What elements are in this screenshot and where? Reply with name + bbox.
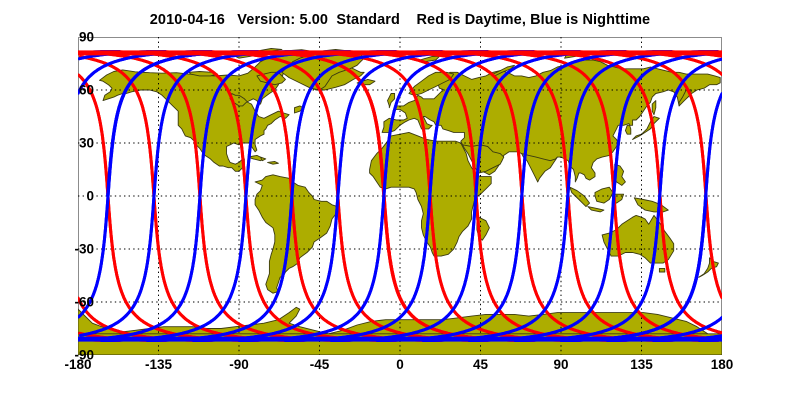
nighttime-track (706, 94, 722, 196)
south-polar-track-envelope (78, 337, 722, 342)
x-tick-label: -90 (229, 357, 249, 372)
nighttime-track (81, 196, 154, 335)
world-map-ground-tracks (78, 37, 722, 355)
chart-title: 2010-04-16 Version: 5.00 Standard Red is… (0, 12, 800, 28)
y-tick-label: -30 (74, 242, 94, 257)
x-tick-label: 0 (396, 357, 404, 372)
landmass-sakhalin (652, 101, 656, 115)
landmass-sumatra (570, 187, 590, 206)
landmass-hispaniola (268, 162, 279, 165)
x-tick-label: -135 (145, 357, 172, 372)
landmass-new-guinea (634, 198, 668, 212)
landmass-tasmania (659, 268, 664, 272)
north-polar-track-envelope (78, 50, 722, 55)
y-tick-label: 0 (86, 189, 94, 204)
y-tick-label: 60 (79, 83, 94, 98)
landmass-borneo (595, 187, 613, 203)
landmass-java (588, 207, 604, 212)
landmass-uk (388, 94, 395, 108)
x-tick-label: 180 (711, 357, 734, 372)
chart-canvas: 2010-04-16 Version: 5.00 Standard Red is… (0, 0, 800, 400)
x-tick-label: 135 (630, 357, 653, 372)
y-tick-label: 90 (79, 30, 94, 45)
plot-area (78, 37, 722, 355)
x-tick-label: 90 (553, 357, 568, 372)
x-tick-label: -180 (64, 357, 91, 372)
nighttime-track (81, 196, 154, 335)
y-tick-label: 30 (79, 136, 94, 151)
y-tick-label: -60 (74, 295, 94, 310)
x-tick-label: 45 (473, 357, 488, 372)
x-tick-label: -45 (310, 357, 330, 372)
